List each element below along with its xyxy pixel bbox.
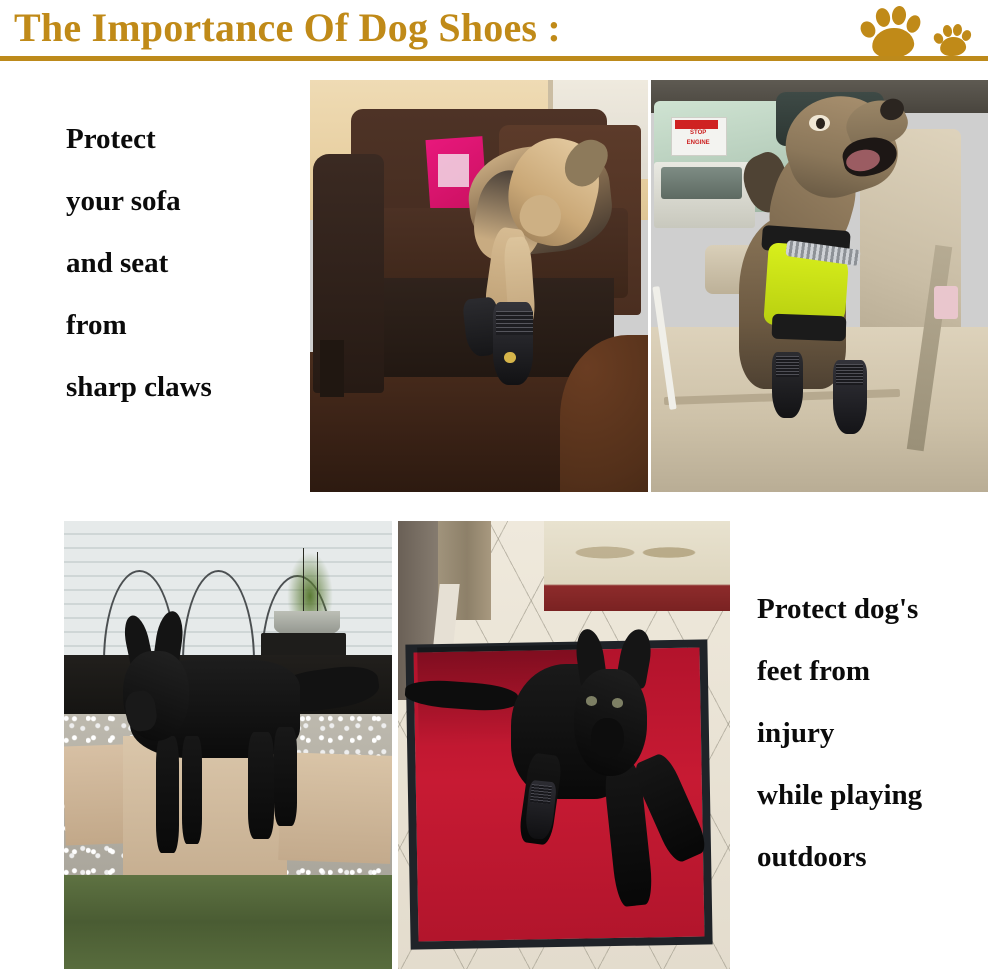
paw-print-group bbox=[850, 0, 980, 58]
parked-truck-window bbox=[661, 167, 742, 200]
paw-print-icon bbox=[860, 4, 922, 58]
paw-print-small-icon bbox=[934, 22, 972, 56]
caption-left-line-1: Protect bbox=[66, 108, 212, 170]
dog-front-leg bbox=[156, 736, 179, 852]
harness-bottom-strap bbox=[772, 314, 847, 341]
paw-toe bbox=[874, 7, 892, 28]
plant-stem bbox=[303, 548, 304, 611]
photo-dog-in-yard bbox=[64, 521, 392, 969]
page-title: The Importance Of Dog Shoes : bbox=[14, 2, 561, 54]
photo-yard-scene bbox=[64, 521, 392, 969]
stop-engine-sign-band bbox=[675, 120, 719, 129]
caption-left-line-2: your sofa bbox=[66, 170, 212, 232]
dog-hind-leg bbox=[248, 732, 274, 840]
caption-left-line-5: sharp claws bbox=[66, 356, 212, 418]
header-divider bbox=[0, 56, 988, 61]
caption-right-line-4: while playing bbox=[757, 764, 922, 826]
dog-boot-strap bbox=[496, 311, 533, 336]
dog-boot-right-strap bbox=[836, 364, 863, 385]
dog-eye bbox=[586, 696, 597, 706]
stop-engine-sign-line-1: STOP bbox=[671, 130, 725, 137]
plant-stem bbox=[317, 552, 318, 610]
oriental-rug-pattern bbox=[557, 530, 716, 575]
dog-boot-strap bbox=[530, 784, 552, 804]
caption-right-line-3: injury bbox=[757, 702, 922, 764]
dog-eye-pupil bbox=[816, 118, 825, 129]
photo-rug-scene bbox=[398, 521, 730, 969]
caption-left-line-4: from bbox=[66, 294, 212, 356]
dog-hind-leg-2 bbox=[274, 727, 297, 826]
caption-left: Protect your sofa and seat from sharp cl… bbox=[66, 108, 212, 418]
photo-dog-on-red-rug bbox=[398, 521, 730, 969]
photo-sofa-scene bbox=[310, 80, 648, 492]
seat-belt-buckle bbox=[934, 286, 958, 319]
caption-right-line-1: Protect dog's bbox=[757, 578, 922, 640]
photo-dog-in-car: STOP ENGINE bbox=[651, 80, 988, 492]
dog-snout bbox=[591, 718, 624, 758]
photo-dog-on-sofa bbox=[310, 80, 648, 492]
stop-engine-sign-line-2: ENGINE bbox=[671, 140, 725, 147]
sofa-leg bbox=[320, 340, 344, 398]
caption-right: Protect dog's feet from injury while pla… bbox=[757, 578, 922, 888]
paw-toe bbox=[942, 24, 953, 38]
paw-toe bbox=[891, 5, 907, 25]
caption-left-line-3: and seat bbox=[66, 232, 212, 294]
page-header: The Importance Of Dog Shoes : bbox=[0, 0, 988, 62]
dog-front-leg-2 bbox=[182, 736, 202, 844]
photo-car-scene: STOP ENGINE bbox=[651, 80, 988, 492]
lawn-grass bbox=[64, 875, 392, 969]
pink-bag-label bbox=[438, 154, 468, 187]
potted-plant-foliage bbox=[287, 552, 333, 615]
dog-boot-left-strap bbox=[776, 356, 800, 377]
caption-right-line-2: feet from bbox=[757, 640, 922, 702]
caption-right-line-5: outdoors bbox=[757, 826, 922, 888]
